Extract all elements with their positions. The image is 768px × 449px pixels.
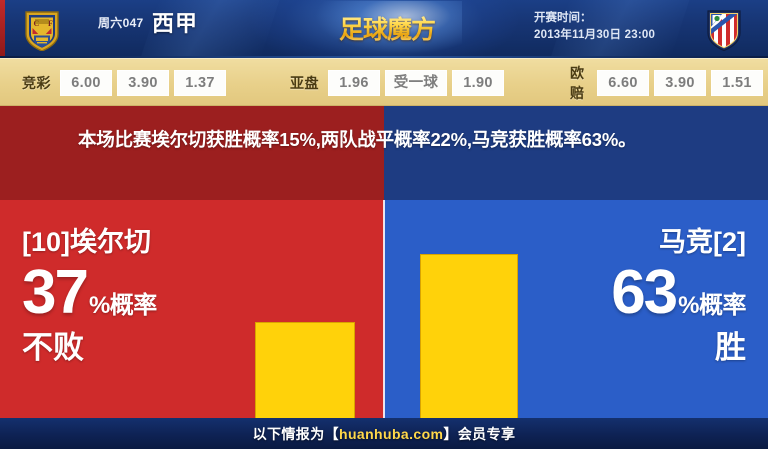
footer-site-link[interactable]: huanhuba.com bbox=[339, 426, 443, 442]
panel-divider bbox=[383, 200, 385, 418]
home-probability-line: 37 %概率 bbox=[22, 262, 157, 324]
headline-summary-text: 本场比赛埃尔切获胜概率15%,两队战平概率22%,马竞获胜概率63%。 bbox=[78, 124, 718, 155]
away-outcome-label: 胜 bbox=[611, 330, 746, 366]
odds-cell-home[interactable]: 1.96 bbox=[328, 70, 380, 96]
match-round-label: 周六047 bbox=[98, 14, 144, 31]
odds-group-label: 亚盘 bbox=[290, 73, 319, 93]
odds-cell-home[interactable]: 6.60 bbox=[597, 70, 649, 96]
odds-bar: 竞彩 6.00 3.90 1.37 亚盘 1.96 受一球 1.90 欧赔 6.… bbox=[0, 58, 768, 106]
odds-cell-draw[interactable]: 3.90 bbox=[654, 70, 706, 96]
home-team-stats: [10]埃尔切 37 %概率 不败 bbox=[22, 226, 157, 366]
home-probability-value: 37 bbox=[22, 262, 87, 324]
footer-suffix: 】会员专享 bbox=[443, 426, 515, 442]
brand-logo: 足球魔方 bbox=[322, 4, 452, 52]
away-team-crest-icon bbox=[702, 7, 746, 51]
odds-group-label: 欧赔 bbox=[570, 63, 588, 103]
kickoff-label: 开赛时间： bbox=[534, 10, 655, 27]
home-team-name: [10]埃尔切 bbox=[22, 226, 157, 258]
odds-group-european: 欧赔 6.60 3.90 1.51 bbox=[570, 59, 768, 107]
bar-home-probability bbox=[255, 322, 355, 418]
away-probability-line: 63 %概率 bbox=[611, 262, 746, 324]
league-name: 西甲 bbox=[152, 6, 198, 38]
away-team-stats: 马竞[2] 63 %概率 胜 bbox=[611, 226, 746, 366]
brand-logo-text: 足球魔方 bbox=[339, 10, 435, 46]
away-probability-suffix: %概率 bbox=[678, 285, 746, 320]
bar-away-probability bbox=[420, 254, 518, 418]
home-probability-suffix: %概率 bbox=[89, 285, 157, 320]
away-probability-value: 63 bbox=[611, 262, 676, 324]
kickoff-time: 2013年11月30日 23:00 bbox=[534, 27, 655, 44]
odds-cell-home[interactable]: 6.00 bbox=[60, 70, 112, 96]
probability-chart: [10]埃尔切 37 %概率 不败 马竞[2] 63 %概率 胜 bbox=[0, 200, 768, 418]
odds-cell-away[interactable]: 1.90 bbox=[452, 70, 504, 96]
match-prediction-infographic: C F 周六047 西甲 足球魔方 开赛时间： 2013年11月30日 23:0… bbox=[0, 0, 768, 449]
odds-group-asian-handicap: 亚盘 1.96 受一球 1.90 bbox=[290, 59, 509, 107]
home-team-crest-icon: C F bbox=[20, 7, 64, 51]
home-outcome-label: 不败 bbox=[22, 330, 157, 366]
footer-notice: 以下情报为【huanhuba.com】会员专享 bbox=[253, 424, 516, 444]
footer-prefix: 以下情报为【 bbox=[253, 426, 339, 442]
odds-cell-handicap[interactable]: 受一球 bbox=[385, 70, 447, 96]
kickoff-time-block: 开赛时间： 2013年11月30日 23:00 bbox=[534, 10, 655, 44]
away-team-name: 马竞[2] bbox=[611, 226, 746, 258]
headline-band: 本场比赛埃尔切获胜概率15%,两队战平概率22%,马竞获胜概率63%。 bbox=[0, 106, 768, 200]
odds-cell-draw[interactable]: 3.90 bbox=[117, 70, 169, 96]
header-bar: C F 周六047 西甲 足球魔方 开赛时间： 2013年11月30日 23:0… bbox=[0, 0, 768, 58]
odds-group-label: 竞彩 bbox=[22, 73, 51, 93]
odds-cell-away[interactable]: 1.51 bbox=[711, 70, 763, 96]
footer-bar: 以下情报为【huanhuba.com】会员专享 bbox=[0, 418, 768, 449]
odds-group-jingcai: 竞彩 6.00 3.90 1.37 bbox=[22, 59, 231, 107]
odds-cell-away[interactable]: 1.37 bbox=[174, 70, 226, 96]
